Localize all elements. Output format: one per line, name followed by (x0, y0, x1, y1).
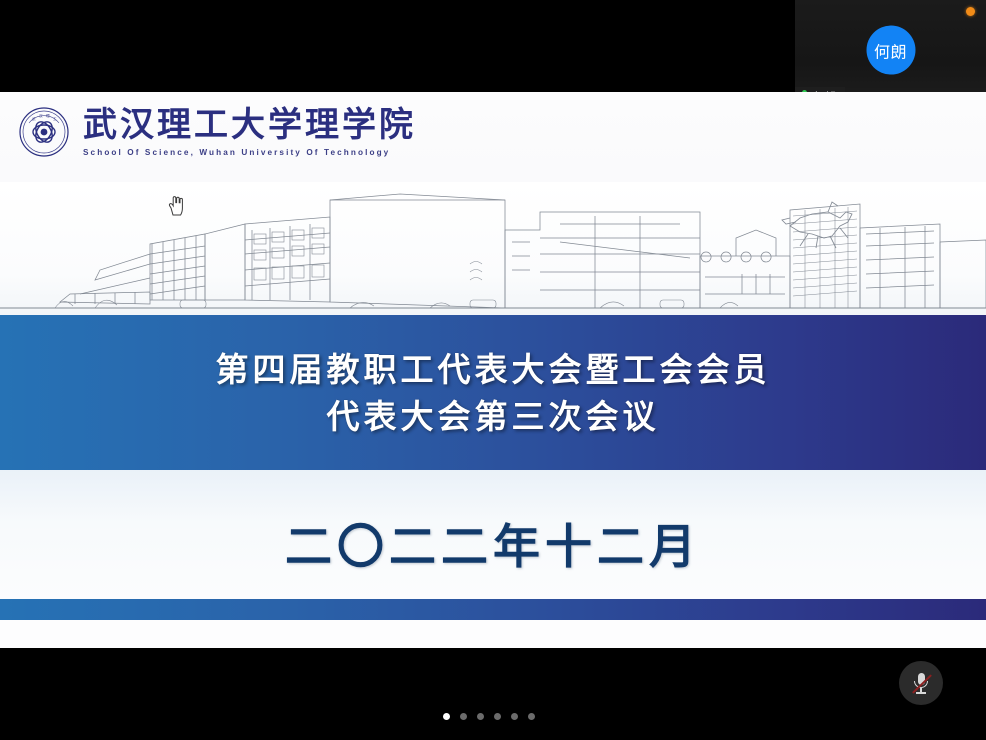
slide-date-area: 二〇二二年十二月 (0, 470, 986, 620)
video-strip: 何朗 何朗 (0, 0, 986, 92)
logo-chinese-name: 武汉理工大学理学院 (83, 105, 416, 145)
avatar: 何朗 (866, 26, 915, 75)
self-view-video-tile[interactable]: 何朗 何朗 (795, 0, 986, 106)
svg-text:工: 工 (53, 117, 57, 121)
slide-title-line-1: 第四届教职工代表大会暨工会会员 (216, 353, 771, 386)
mute-toggle-button[interactable] (899, 661, 943, 705)
slide-title-line-2: 代表大会第三次会议 (327, 400, 660, 433)
pagination-dot[interactable] (494, 713, 501, 720)
logo-text-block: 武汉理工大学理学院 School Of Science, Wuhan Unive… (83, 106, 416, 157)
slide-pagination-dots[interactable] (443, 713, 535, 720)
institution-logo: 武汉 理工 武汉理工大学理学院 School Of Science, Wuhan… (18, 106, 416, 158)
recording-indicator-icon (966, 7, 975, 16)
svg-text:理: 理 (46, 113, 50, 118)
microphone-muted-icon (913, 672, 930, 695)
slide-date: 二〇二二年十二月 (285, 524, 701, 571)
logo-english-name: School Of Science, Wuhan University Of T… (83, 148, 416, 157)
svg-text:汉: 汉 (39, 113, 43, 118)
meeting-control-bar (0, 648, 986, 740)
pagination-dot[interactable] (511, 713, 518, 720)
avatar-initials: 何朗 (874, 38, 907, 62)
svg-text:武: 武 (32, 116, 36, 121)
slide-header: 武汉 理工 武汉理工大学理学院 School Of Science, Wuhan… (0, 92, 986, 182)
screen-root: 何朗 何朗 (0, 0, 986, 740)
slide-footer-strip (0, 599, 986, 620)
presentation-slide[interactable]: 武汉 理工 武汉理工大学理学院 School Of Science, Wuhan… (0, 92, 986, 648)
pagination-dot[interactable] (477, 713, 484, 720)
slide-title-banner: 第四届教职工代表大会暨工会会员 代表大会第三次会议 (0, 315, 986, 470)
pagination-dot[interactable] (528, 713, 535, 720)
pagination-dot[interactable] (443, 713, 450, 720)
pagination-dot[interactable] (460, 713, 467, 720)
campus-sketch-illustration (0, 182, 986, 315)
university-seal-icon: 武汉 理工 (18, 106, 70, 158)
